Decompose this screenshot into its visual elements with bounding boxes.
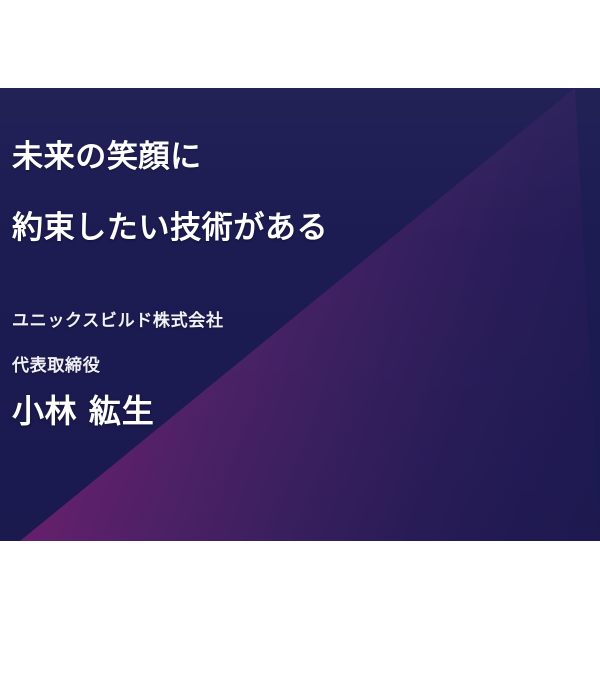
page-root: 未来の笑顔に 約束したい技術がある ユニックスビルド株式会社 代表取締役 小林 … — [0, 0, 600, 693]
person-name: 小林 紘生 — [12, 395, 154, 427]
hero-banner: 未来の笑顔に 約束したい技術がある ユニックスビルド株式会社 代表取締役 小林 … — [0, 88, 600, 541]
job-title: 代表取締役 — [12, 358, 100, 375]
headline-line-1: 未来の笑顔に — [12, 142, 202, 173]
bottom-whitespace — [0, 541, 600, 693]
company-name: ユニックスビルド株式会社 — [12, 313, 224, 330]
top-whitespace — [0, 0, 600, 88]
headline-line-2: 約束したい技術がある — [12, 213, 328, 244]
hero-content: 未来の笑顔に 約束したい技術がある ユニックスビルド株式会社 代表取締役 小林 … — [0, 88, 600, 541]
